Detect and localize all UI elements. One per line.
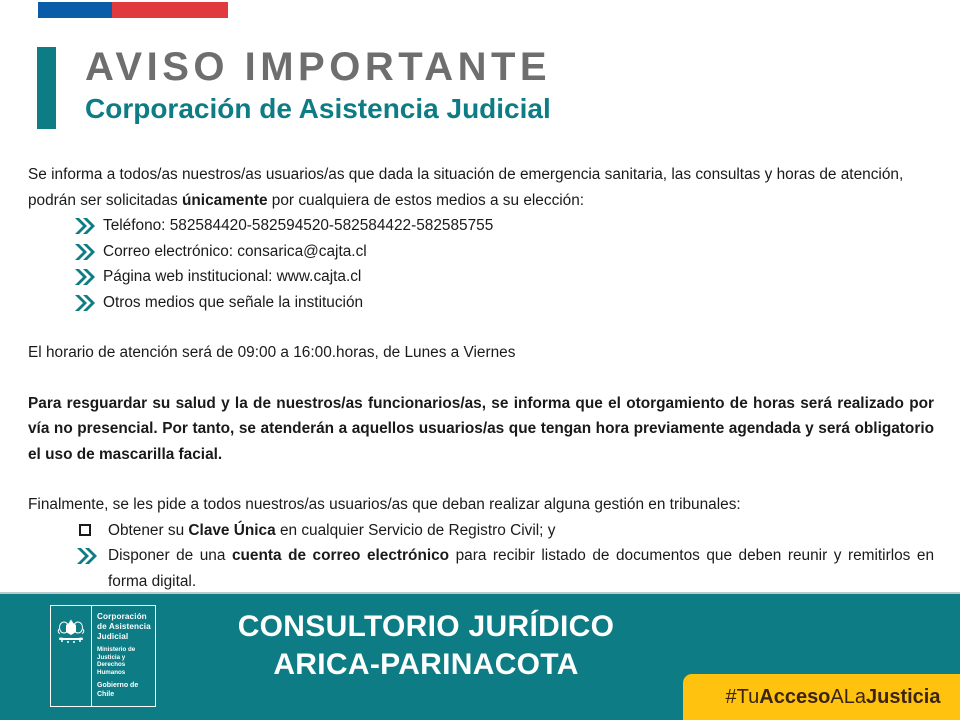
intro-text-tail: por cualquiera de estos medios a su elec… bbox=[268, 192, 585, 209]
hashtag-badge: #TuAccesoALaJusticia bbox=[683, 674, 960, 720]
footer-divider bbox=[0, 592, 960, 594]
list-item: Otros medios que señale la institución bbox=[28, 290, 934, 316]
closing-intro-paragraph: Finalmente, se les pide a todos nuestros… bbox=[28, 492, 934, 518]
spacer bbox=[28, 467, 934, 492]
notice-body: Se informa a todos/as nuestros/as usuari… bbox=[28, 162, 934, 645]
page-title: AVISO IMPORTANTE bbox=[85, 42, 551, 92]
intro-paragraph: Se informa a todos/as nuestros/as usuari… bbox=[28, 162, 934, 213]
list-item: Correo electrónico: consarica@cajta.cl bbox=[28, 239, 934, 265]
footer-headline: CONSULTORIO JURÍDICO ARICA-PARINACOTA bbox=[176, 608, 676, 684]
logo-crest-column bbox=[51, 606, 92, 706]
double-chevron-icon bbox=[74, 213, 98, 239]
header-accent-bar bbox=[37, 47, 56, 129]
notice-page: AVISO IMPORTANTE Corporación de Asistenc… bbox=[0, 0, 960, 720]
flag-red-block bbox=[112, 2, 228, 18]
hashtag-part-3: ALa bbox=[830, 686, 866, 708]
hashtag-part-4: Justicia bbox=[866, 686, 940, 708]
footer-headline-line1: CONSULTORIO JURÍDICO bbox=[176, 608, 676, 646]
double-chevron-icon bbox=[76, 543, 100, 569]
chile-flag-bar bbox=[38, 2, 228, 18]
footer-headline-line2: ARICA-PARINACOTA bbox=[176, 646, 676, 684]
schedule-paragraph: El horario de atención será de 09:00 a 1… bbox=[28, 340, 934, 366]
hashtag-part-2: Acceso bbox=[759, 686, 830, 708]
spacer bbox=[28, 366, 934, 391]
double-chevron-icon bbox=[74, 290, 98, 316]
logo-text-column: Corporación de Asistencia Judicial Minis… bbox=[92, 606, 155, 706]
spacer bbox=[28, 315, 934, 340]
list-item-label: Correo electrónico: consarica@cajta.cl bbox=[103, 243, 367, 260]
list-item-emphasis: cuenta de correo electrónico bbox=[232, 547, 449, 564]
list-item-lead: Obtener su bbox=[108, 522, 188, 539]
caj-logo: Corporación de Asistencia Judicial Minis… bbox=[50, 605, 156, 707]
list-item: Página web institucional: www.cajta.cl bbox=[28, 264, 934, 290]
hashtag-part-1: #Tu bbox=[726, 686, 760, 708]
list-item: Obtener su Clave Única en cualquier Serv… bbox=[28, 518, 934, 544]
intro-emphasis: únicamente bbox=[182, 192, 268, 209]
chile-coat-of-arms-icon bbox=[56, 619, 86, 645]
flag-blue-block bbox=[38, 2, 112, 18]
hollow-square-icon bbox=[76, 518, 100, 544]
logo-ministry-name: Ministerio de Justicia y Derechos Humano… bbox=[97, 646, 152, 676]
health-notice-paragraph: Para resguardar su salud y la de nuestro… bbox=[28, 391, 934, 468]
header-titles: AVISO IMPORTANTE Corporación de Asistenc… bbox=[85, 42, 551, 128]
list-item-tail: en cualquier Servicio de Registro Civil;… bbox=[276, 522, 556, 539]
list-item: Teléfono: 582584420-582594520-582584422-… bbox=[28, 213, 934, 239]
double-chevron-icon bbox=[74, 264, 98, 290]
list-item-label: Teléfono: 582584420-582594520-582584422-… bbox=[103, 217, 493, 234]
page-subtitle: Corporación de Asistencia Judicial bbox=[85, 90, 551, 128]
logo-government-name: Gobierno de Chile bbox=[97, 681, 155, 699]
list-item-label: Otros medios que señale la institución bbox=[103, 294, 363, 311]
logo-org-name: Corporación de Asistencia Judicial bbox=[97, 612, 152, 642]
list-item-lead: Disponer de una bbox=[108, 547, 232, 564]
double-chevron-icon bbox=[74, 239, 98, 265]
list-item-label: Página web institucional: www.cajta.cl bbox=[103, 268, 361, 285]
list-item: Disponer de una cuenta de correo electró… bbox=[28, 543, 934, 594]
requirements-list: Obtener su Clave Única en cualquier Serv… bbox=[28, 518, 934, 595]
contact-channel-list: Teléfono: 582584420-582594520-582584422-… bbox=[28, 213, 934, 315]
page-header: AVISO IMPORTANTE Corporación de Asistenc… bbox=[0, 42, 960, 137]
list-item-emphasis: Clave Única bbox=[188, 522, 275, 539]
